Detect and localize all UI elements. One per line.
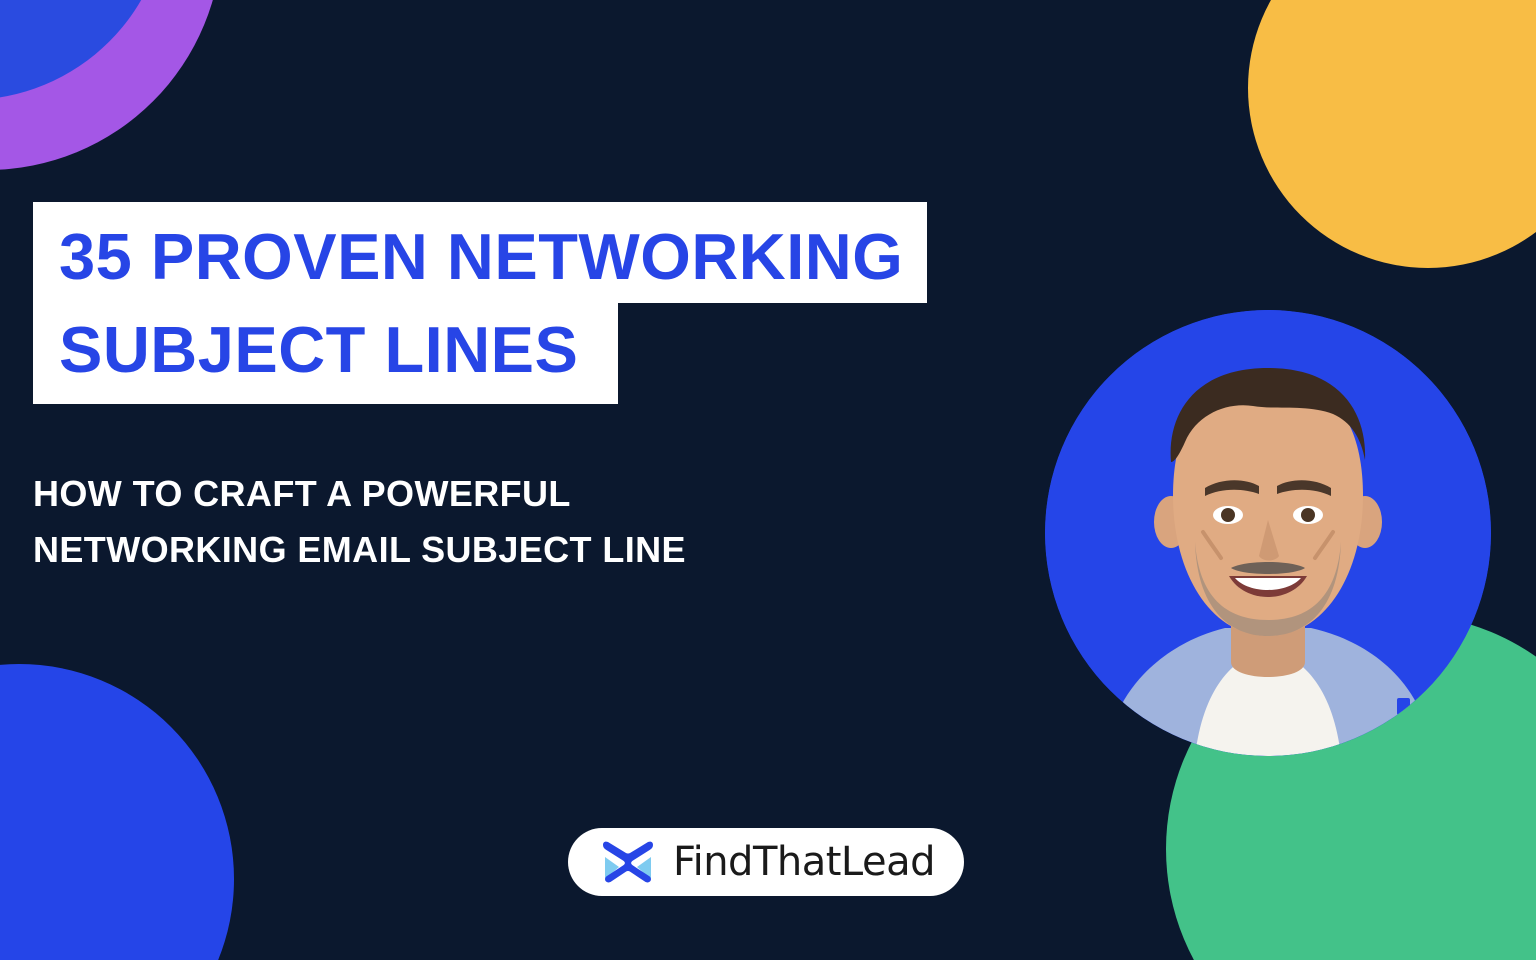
portrait-illustration <box>1045 310 1491 756</box>
social-banner-canvas: 35 PROVEN NETWORKING SUBJECT LINES HOW T… <box>0 0 1536 960</box>
page-title: 35 PROVEN NETWORKING SUBJECT LINES <box>33 202 927 404</box>
brand-logo[interactable]: FindThatLead <box>568 828 964 896</box>
findthatlead-envelope-icon <box>597 839 659 885</box>
subtitle-line-1: HOW TO CRAFT A POWERFUL <box>33 466 686 522</box>
headline-line-1: 35 PROVEN NETWORKING <box>33 202 927 303</box>
headline-line-2: SUBJECT LINES <box>33 303 618 404</box>
brand-name: FindThatLead <box>673 842 935 882</box>
subtitle: HOW TO CRAFT A POWERFUL NETWORKING EMAIL… <box>33 466 686 578</box>
blue-circle-bottom-left-decoration <box>0 664 234 960</box>
subtitle-line-2: NETWORKING EMAIL SUBJECT LINE <box>33 522 686 578</box>
yellow-circle-top-right-decoration <box>1248 0 1536 268</box>
avatar <box>1045 310 1491 756</box>
